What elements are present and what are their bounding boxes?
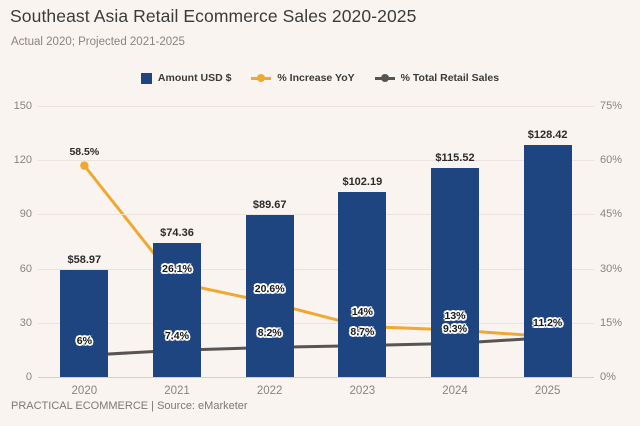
y-axis-right-tick-label: 75% (600, 100, 640, 112)
point-value-label-2023: 14% (352, 306, 373, 318)
point-value-label-2020: 6% (77, 335, 92, 347)
point-value-label-2021: 7.4% (165, 330, 189, 342)
point-value-label-2022: 20.6% (255, 283, 285, 295)
x-axis-baseline (38, 377, 594, 378)
y-axis-right-tick-label: 60% (600, 154, 640, 166)
y-axis-right-tick-label: 15% (600, 317, 640, 329)
x-axis-tick-label-2021: 2021 (164, 385, 190, 397)
bar-value-label-2021: $74.36 (160, 227, 194, 239)
gridline (38, 160, 594, 161)
x-axis-tick-label-2020: 2020 (72, 385, 98, 397)
bar-2025[interactable] (524, 145, 572, 377)
point-value-label-2025: 11.2% (533, 317, 562, 329)
chart-subtitle: Actual 2020; Projected 2021-2025 (11, 36, 185, 48)
gridline (38, 269, 594, 270)
bar-value-label-2025: $128.42 (528, 129, 568, 141)
chart-source-note: PRACTICAL ECOMMERCE | Source: eMarketer (11, 400, 248, 412)
x-axis-tick-label-2022: 2022 (257, 385, 283, 397)
x-axis-tick-label-2025: 2025 (535, 385, 561, 397)
legend-item-2[interactable]: % Total Retail Sales (375, 72, 499, 84)
legend-item-label: Amount USD $ (158, 72, 232, 84)
chart-title: Southeast Asia Retail Ecommerce Sales 20… (10, 6, 416, 27)
bar-2023[interactable] (338, 192, 386, 377)
y-axis-right-tick-label: 30% (600, 263, 640, 275)
y-axis-left-tick-label: 150 (0, 100, 32, 112)
y-axis-right-tick-label: 45% (600, 208, 640, 220)
legend-item-label: % Total Retail Sales (401, 72, 499, 84)
gridline (38, 214, 594, 215)
y-axis-left-tick-label: 30 (0, 317, 32, 329)
point-value-label-2022: 8.2% (258, 327, 282, 339)
point-value-label-2024: 13% (444, 310, 465, 322)
legend-item-0[interactable]: Amount USD $ (141, 72, 232, 84)
chart-legend: Amount USD $% Increase YoY% Total Retail… (0, 72, 640, 84)
legend-line-marker-icon (251, 73, 271, 84)
point-value-label-2020: 58.5% (69, 146, 99, 158)
gridline (38, 106, 594, 107)
point-value-label-2024: 9.3% (443, 323, 467, 335)
gridline (38, 323, 594, 324)
legend-square-swatch-icon (141, 73, 152, 84)
data-point-marker-2020[interactable] (80, 161, 88, 169)
point-value-label-2021: 26.1% (162, 263, 192, 275)
x-axis-tick-label-2023: 2023 (350, 385, 376, 397)
y-axis-left-tick-label: 60 (0, 263, 32, 275)
bar-2024[interactable] (431, 168, 479, 377)
legend-line-marker-icon (375, 73, 395, 84)
legend-item-label: % Increase YoY (277, 72, 354, 84)
x-axis-tick-label-2024: 2024 (442, 385, 468, 397)
bar-value-label-2020: $58.97 (68, 254, 102, 266)
y-axis-right-tick-label: 0% (600, 371, 640, 383)
y-axis-left-tick-label: 90 (0, 208, 32, 220)
point-value-label-2023: 8.7% (350, 326, 374, 338)
bar-value-label-2024: $115.52 (435, 152, 474, 164)
bar-value-label-2022: $89.67 (253, 199, 287, 211)
y-axis-left-tick-label: 0 (0, 371, 32, 383)
y-axis-left-tick-label: 120 (0, 154, 32, 166)
chart-figure: Southeast Asia Retail Ecommerce Sales 20… (0, 0, 640, 426)
bar-value-label-2023: $102.19 (342, 176, 382, 188)
bar-2022[interactable] (246, 215, 294, 377)
legend-item-1[interactable]: % Increase YoY (251, 72, 354, 84)
plot-area: 03060901201500%15%30%45%60%75%2020202120… (0, 96, 640, 386)
bar-2020[interactable] (60, 270, 108, 377)
